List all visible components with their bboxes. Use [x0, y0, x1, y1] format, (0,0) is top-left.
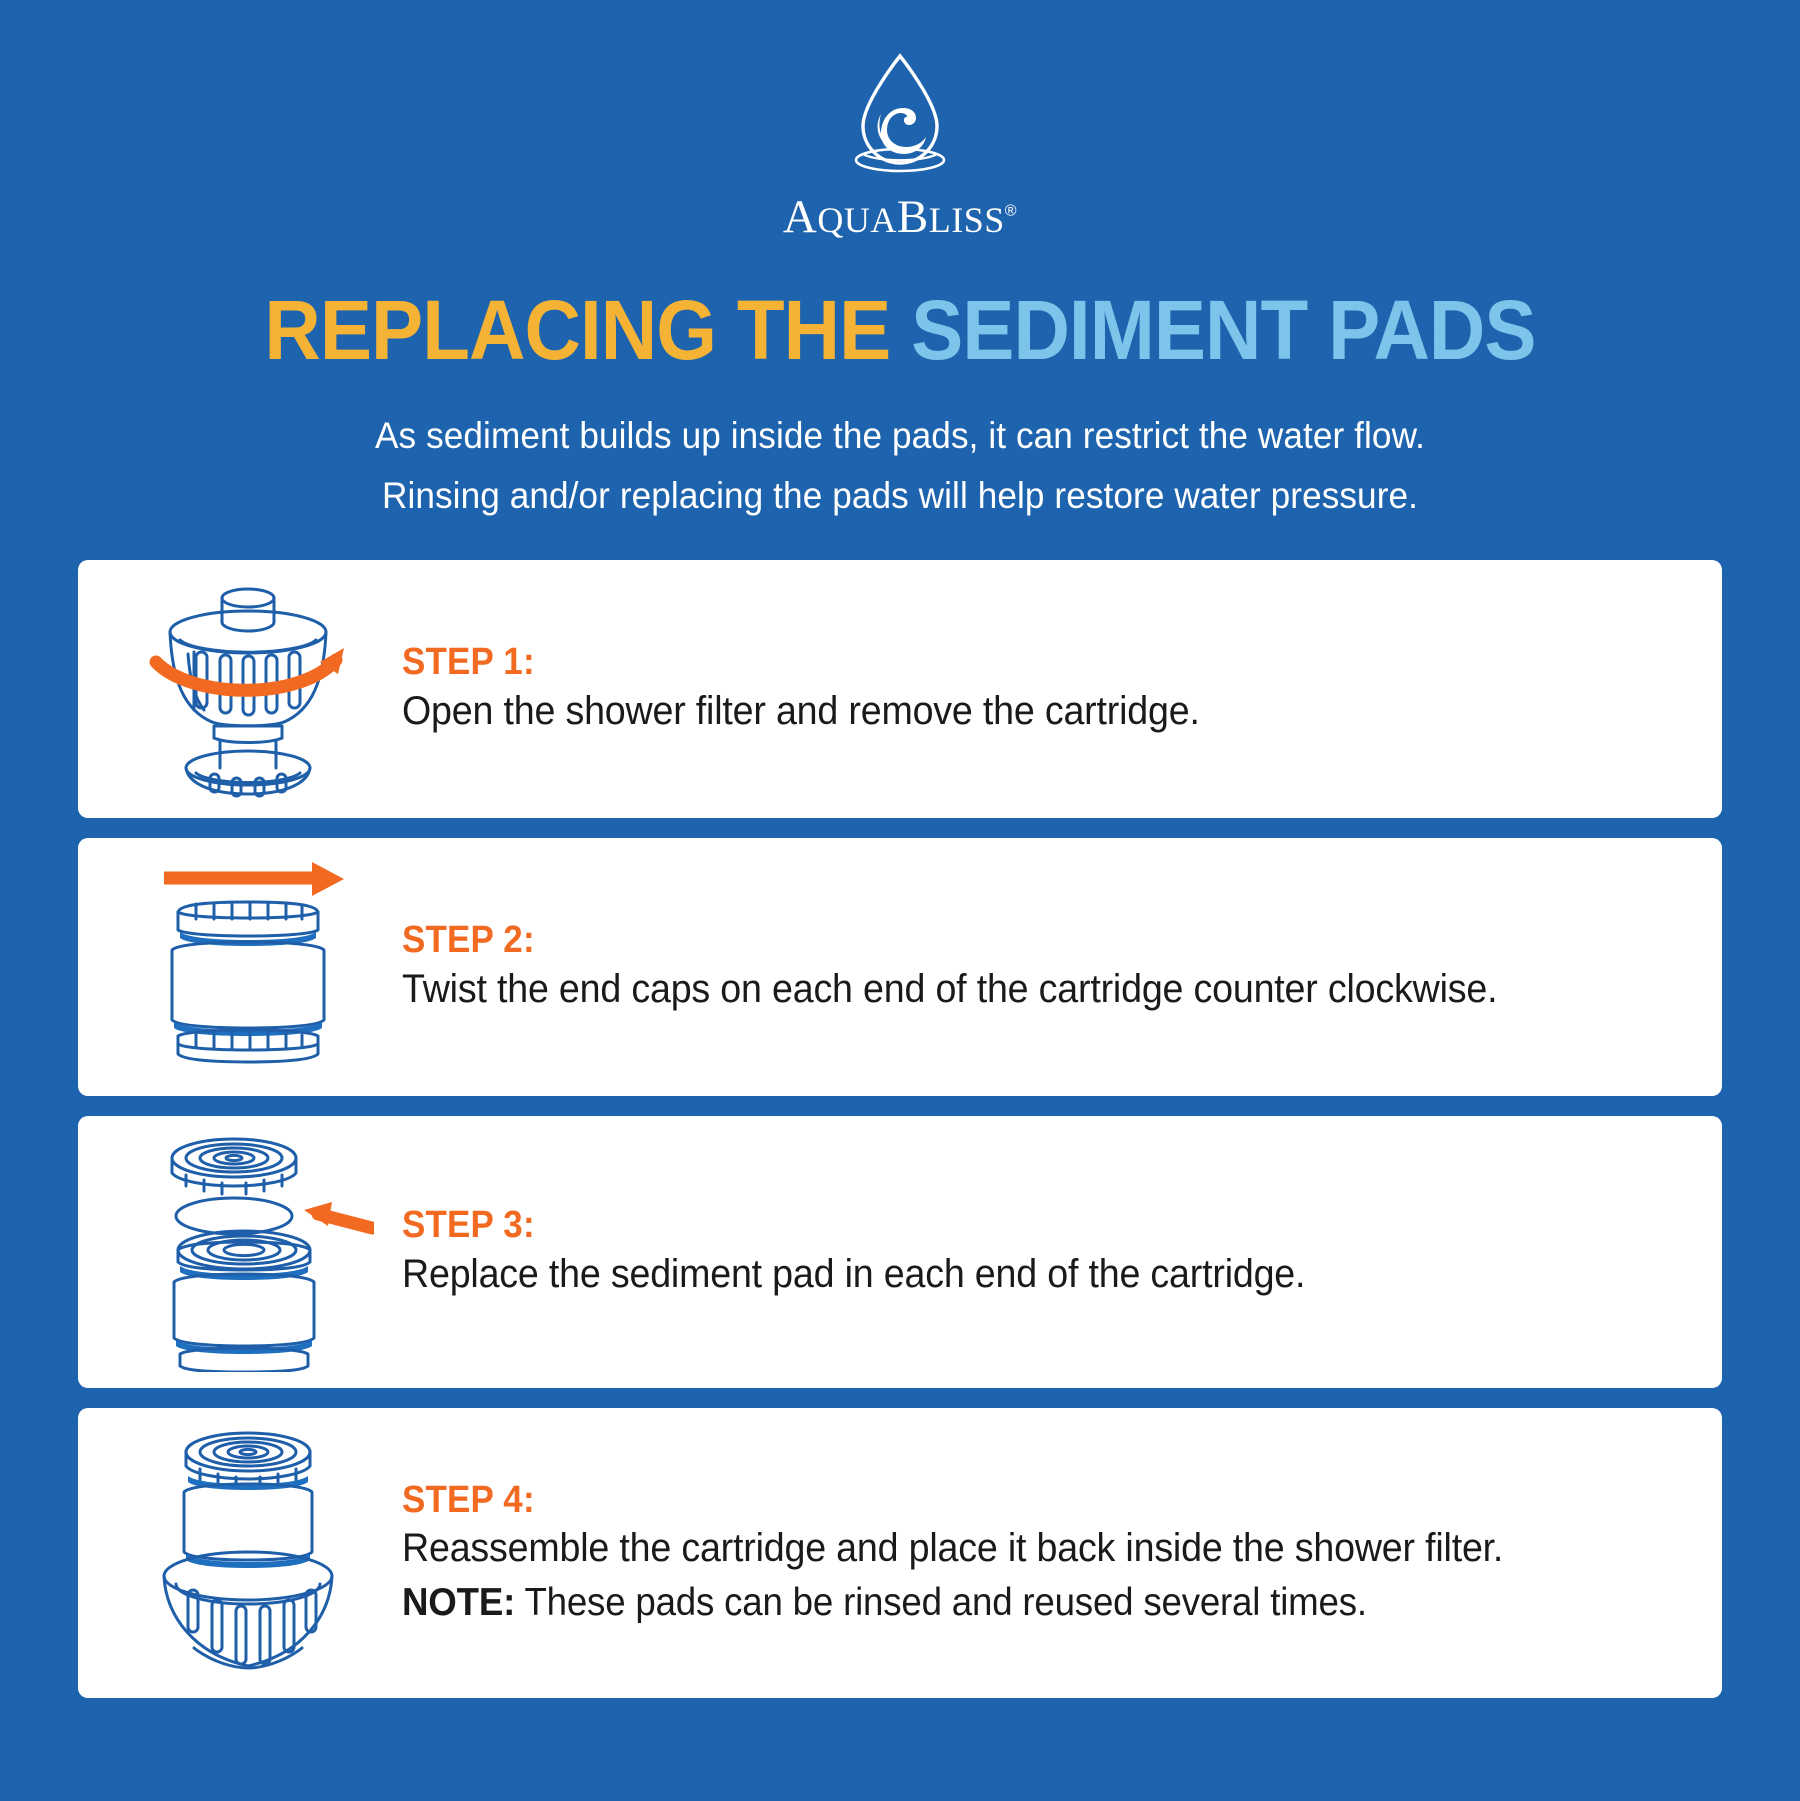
step-1-label: STEP 1:: [402, 641, 1583, 684]
page-title-part-2: SEDIMENT PADS: [911, 283, 1536, 377]
steps-list: STEP 1: Open the shower filter and remov…: [78, 560, 1722, 1698]
insert-arrow-icon: [304, 1202, 372, 1228]
cartridge-with-straight-arrow-icon: [122, 854, 374, 1080]
page-title-part-1: REPLACING THE: [264, 283, 911, 377]
step-4-label: STEP 4:: [402, 1479, 1583, 1522]
step-3-body: STEP 3: Replace the sediment pad in each…: [384, 1204, 1696, 1299]
step-2-illustration: [112, 854, 384, 1080]
assembled-cartridge-in-filter-icon: [122, 1424, 374, 1682]
step-1-illustration: [112, 576, 384, 802]
step-4-note-text: These pads can be rinsed and reused seve…: [515, 1581, 1367, 1624]
step-4-note: NOTE: These pads can be rinsed and reuse…: [402, 1578, 1609, 1627]
infographic-page: AQUABLISS® REPLACING THE SEDIMENT PADS A…: [0, 0, 1800, 1801]
exploded-cartridge-endcap-pad-icon: [122, 1132, 374, 1372]
page-title: REPLACING THE SEDIMENT PADS: [63, 288, 1737, 372]
step-card-3: STEP 3: Replace the sediment pad in each…: [78, 1116, 1722, 1388]
step-3-label: STEP 3:: [402, 1204, 1583, 1247]
brand-wordmark: AQUABLISS®: [783, 190, 1017, 244]
step-2-label: STEP 2:: [402, 919, 1583, 962]
subtitle-line-1: As sediment builds up inside the pads, i…: [45, 406, 1755, 466]
brand-name-b: B: [897, 191, 929, 243]
step-2-text: Twist the end caps on each end of the ca…: [402, 964, 1609, 1014]
subtitle-line-2: Rinsing and/or replacing the pads will h…: [45, 466, 1755, 526]
brand-name-qua: QUA: [817, 200, 897, 240]
shower-filter-housing-with-curved-arrow-icon: [122, 576, 374, 802]
step-3-illustration: [112, 1132, 384, 1372]
step-card-4: STEP 4: Reassemble the cartridge and pla…: [78, 1408, 1722, 1698]
step-1-text: Open the shower filter and remove the ca…: [402, 686, 1609, 736]
step-2-body: STEP 2: Twist the end caps on each end o…: [384, 919, 1696, 1014]
step-card-1: STEP 1: Open the shower filter and remov…: [78, 560, 1722, 818]
registered-trademark-mark: ®: [1005, 202, 1017, 219]
brand-name-a: A: [783, 191, 817, 243]
water-droplet-swan-icon: [825, 48, 975, 188]
step-card-2: STEP 2: Twist the end caps on each end o…: [78, 838, 1722, 1096]
page-subtitle: As sediment builds up inside the pads, i…: [45, 406, 1755, 526]
brand-logo: AQUABLISS®: [0, 0, 1800, 244]
step-4-body: STEP 4: Reassemble the cartridge and pla…: [384, 1479, 1696, 1627]
twist-arrow-icon: [164, 862, 344, 896]
step-4-text: Reassemble the cartridge and place it ba…: [402, 1523, 1609, 1573]
step-4-note-prefix: NOTE:: [402, 1581, 515, 1624]
step-4-illustration: [112, 1424, 384, 1682]
step-1-body: STEP 1: Open the shower filter and remov…: [384, 641, 1696, 736]
step-3-text: Replace the sediment pad in each end of …: [402, 1249, 1609, 1299]
brand-name-liss: LISS: [929, 200, 1005, 240]
